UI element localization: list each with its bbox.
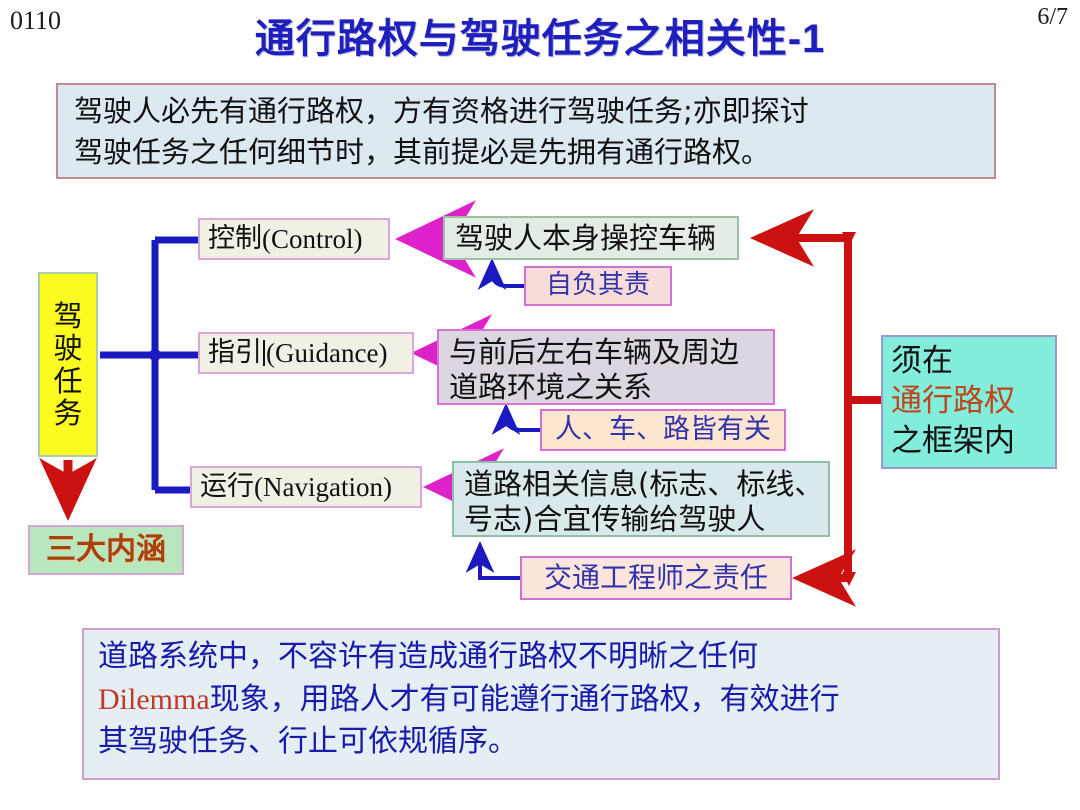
top-statement-line-2: 驾驶任务之任何细节时，其前提必是先拥有通行路权。 [74, 132, 980, 173]
note-people-vehicle-road[interactable]: 人、车、路皆有关 [540, 409, 786, 451]
scope-line-3: 之框架内 [891, 422, 1015, 462]
task-control[interactable]: 控制(Control) [198, 218, 390, 260]
description-guidance[interactable]: 与前后左右车辆及周边 道路环境之关系 [437, 329, 775, 405]
scope-right-of-way-box[interactable]: 须在 通行路权 之框架内 [881, 335, 1057, 469]
description-guidance-line-1: 与前后左右车辆及周边 [449, 335, 773, 370]
slide-canvas: 0110 6/7 通行路权与驾驶任务之相关性-1 驾驶人必先有通行路权，方有资格… [0, 0, 1080, 810]
task-navigation-cjk: 运行 [200, 472, 254, 502]
description-guidance-line-2: 道路环境之关系 [449, 370, 773, 405]
task-navigation-en: (Navigation) [254, 472, 392, 502]
note-self-responsibility[interactable]: 自负其责 [524, 266, 672, 306]
bottom-statement-line-3: 其驾驶任务、行止可依规循序。 [98, 721, 984, 764]
task-navigation[interactable]: 运行(Navigation) [190, 466, 422, 508]
description-control[interactable]: 驾驶人本身操控车辆 [443, 216, 739, 260]
description-navigation-line-1: 道路相关信息(标志、标线、 [464, 467, 828, 502]
top-statement-box: 驾驶人必先有通行路权，方有资格进行驾驶任务;亦即探讨 驾驶任务之任何细节时，其前… [56, 83, 996, 179]
dilemma-highlight: Dilemma [98, 683, 210, 716]
three-aspects-box[interactable]: 三大内涵 [28, 525, 184, 575]
task-guidance-cjk: 指引 [208, 338, 262, 368]
task-control-cjk: 控制 [208, 224, 262, 254]
note-traffic-engineer-duty[interactable]: 交通工程师之责任 [520, 556, 792, 600]
bottom-statement-box: 道路系统中，不容许有造成通行路权不明晰之任何 Dilemma现象，用路人才有可能… [82, 628, 1000, 780]
root-node-driving-task[interactable]: 驾 驶 任 务 [38, 272, 98, 457]
root-char-2: 驶 [53, 332, 82, 364]
root-char-3: 任 [53, 365, 82, 397]
page-title: 通行路权与驾驶任务之相关性-1 [0, 6, 1080, 64]
task-guidance[interactable]: 指引(Guidance) [198, 332, 414, 374]
scope-line-2: 通行路权 [891, 382, 1015, 422]
description-navigation[interactable]: 道路相关信息(标志、标线、 号志)合宜传输给驾驶人 [452, 461, 830, 537]
bottom-statement-line-1: 道路系统中，不容许有造成通行路权不明晰之任何 [98, 636, 984, 679]
text-caret [263, 340, 265, 366]
task-control-en: (Control) [262, 224, 363, 254]
scope-line-1: 须在 [891, 342, 953, 382]
root-char-4: 务 [53, 397, 82, 429]
bottom-statement-line-2: Dilemma现象，用路人才有可能遵行通行路权，有效进行 [98, 679, 984, 722]
root-char-1: 驾 [53, 300, 82, 332]
bottom-statement-line-2-rest: 现象，用路人才有可能遵行通行路权，有效进行 [210, 682, 840, 717]
task-guidance-en: (Guidance) [266, 338, 387, 368]
top-statement-line-1: 驾驶人必先有通行路权，方有资格进行驾驶任务;亦即探讨 [74, 91, 980, 132]
description-navigation-line-2: 号志)合宜传输给驾驶人 [464, 502, 828, 537]
